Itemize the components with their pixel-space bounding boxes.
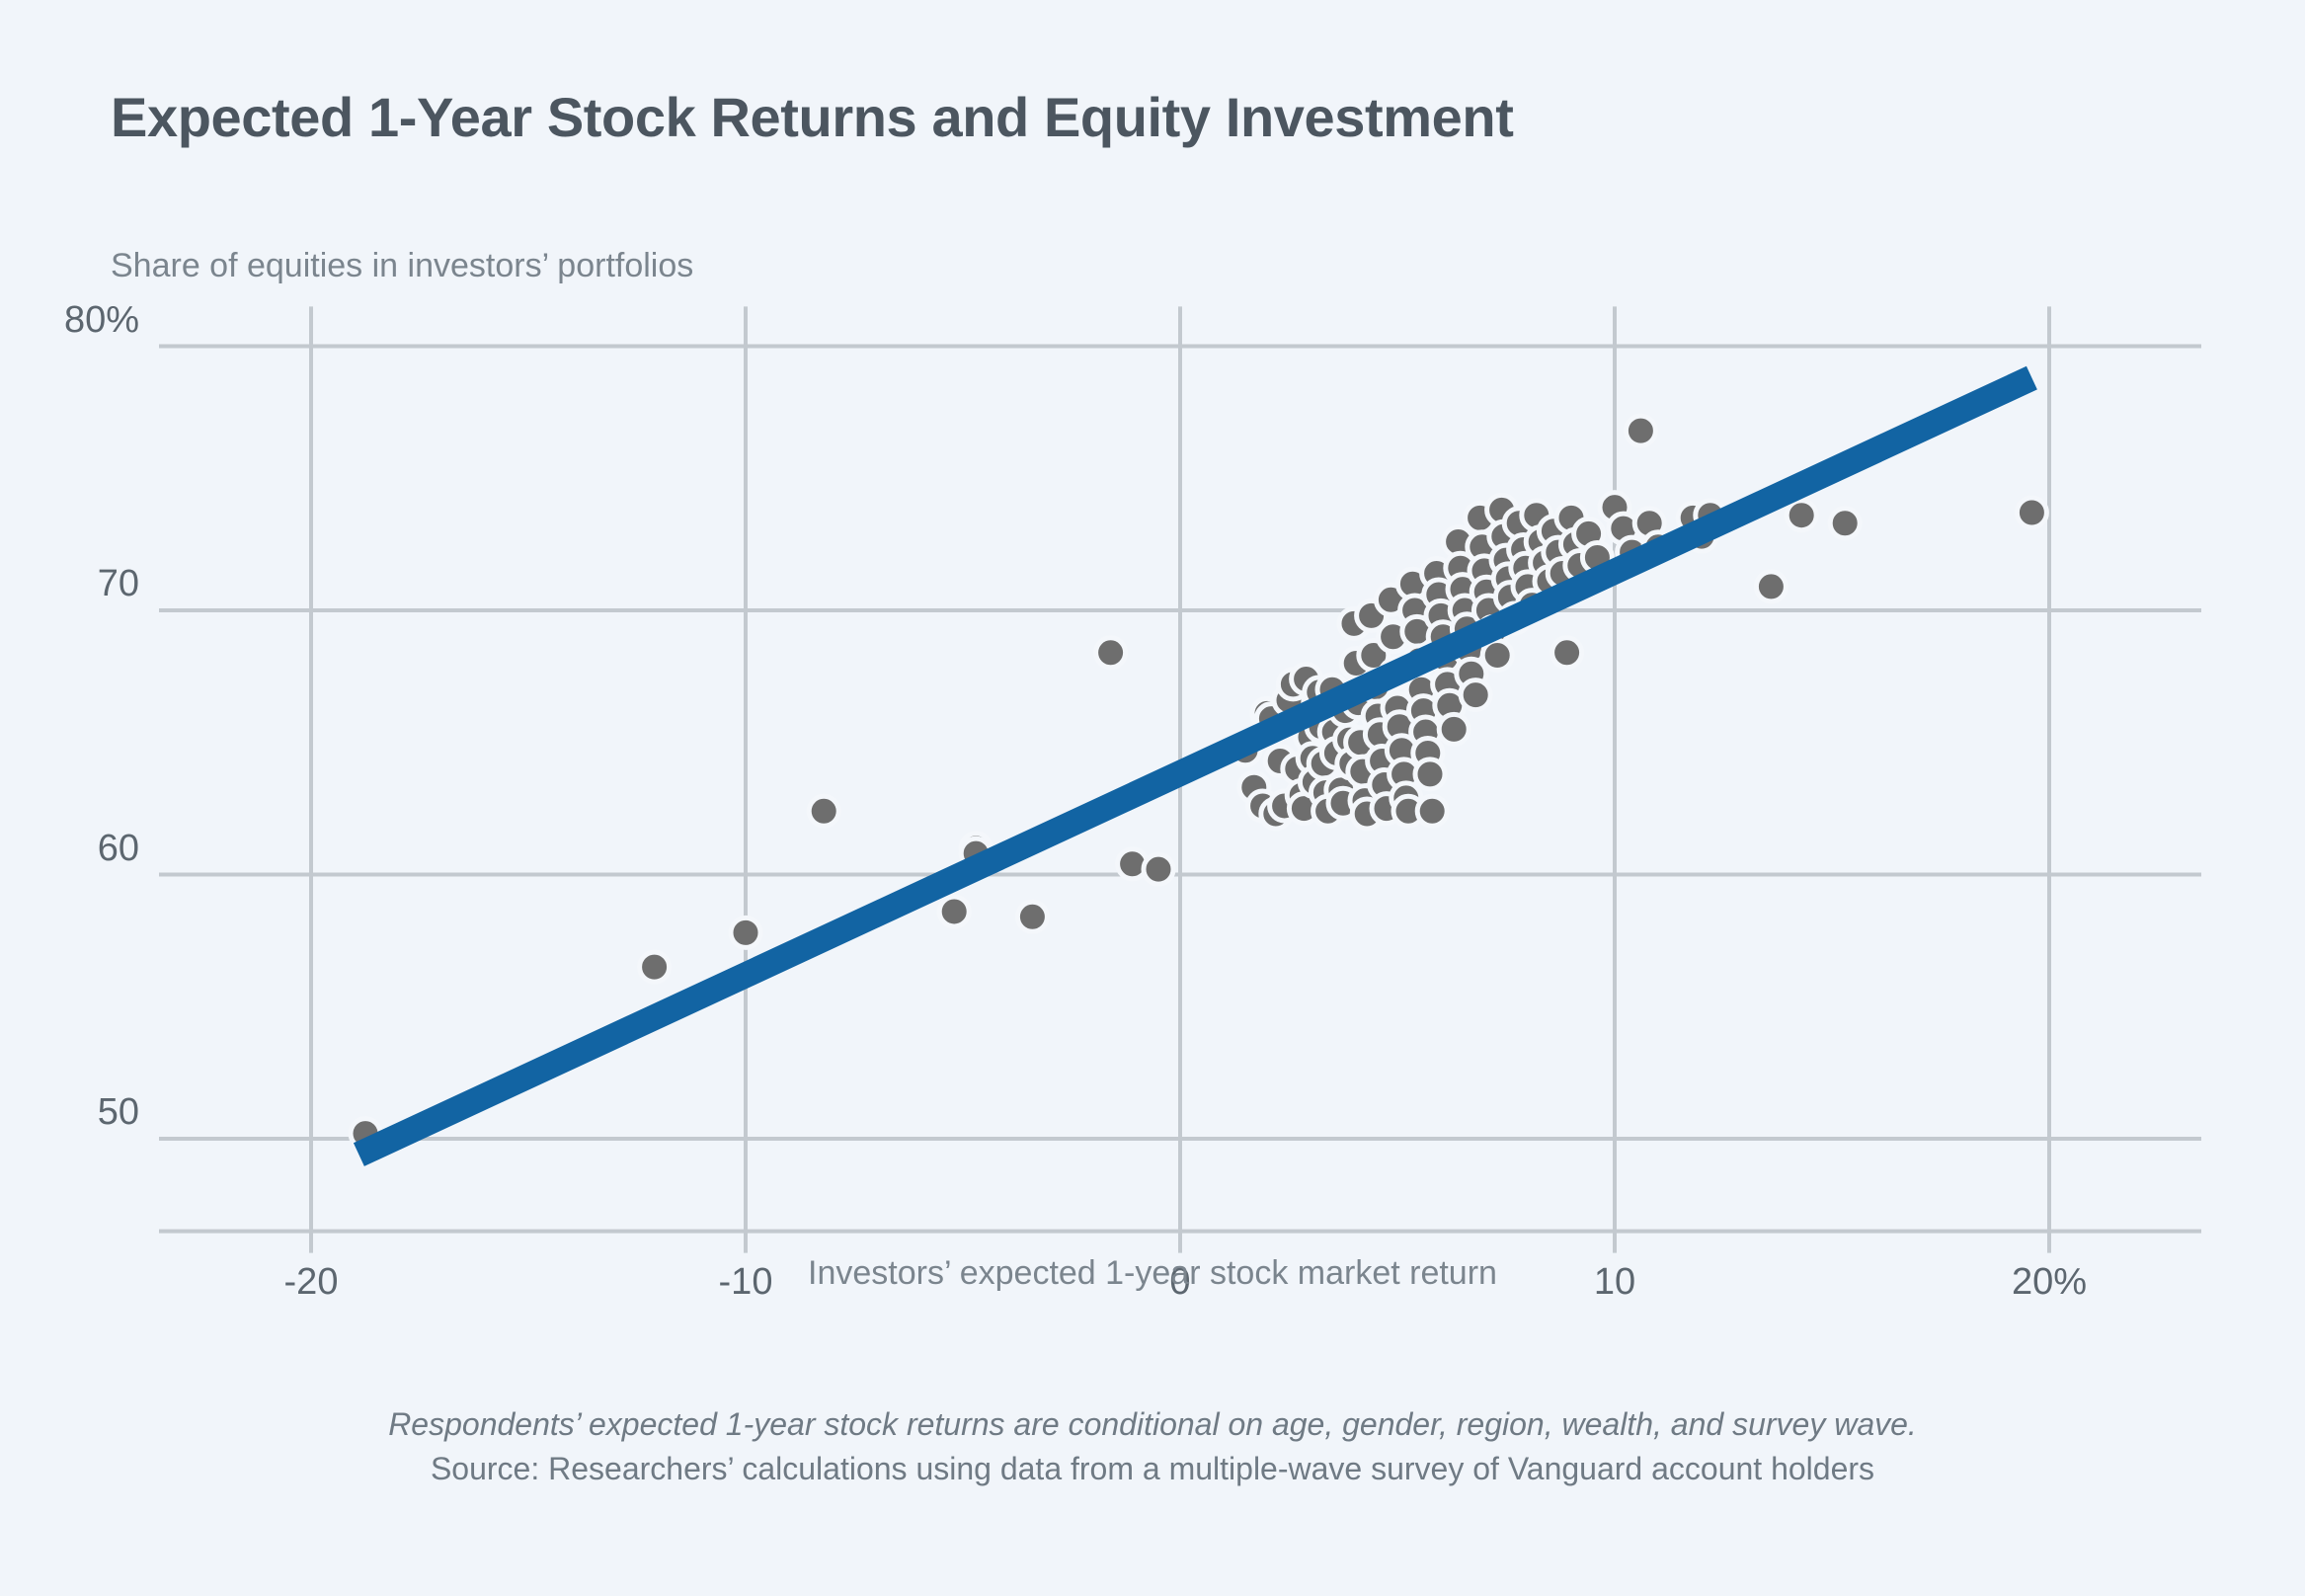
scatter-point bbox=[640, 952, 670, 982]
scatter-point bbox=[1439, 714, 1469, 744]
scatter-point bbox=[731, 918, 760, 947]
trendline bbox=[358, 378, 2031, 1155]
scatter-point bbox=[2017, 498, 2046, 527]
figure-notes: Respondents’ expected 1-year stock retur… bbox=[0, 1402, 2305, 1492]
scatter-point bbox=[1830, 509, 1860, 538]
scatter-point bbox=[1626, 416, 1655, 445]
scatter-point bbox=[939, 897, 969, 926]
scatter-point bbox=[1552, 638, 1582, 668]
chart-figure: Expected 1-Year Stock Returns and Equity… bbox=[0, 0, 2305, 1596]
scatter-plot bbox=[0, 0, 2305, 1596]
scatter-point bbox=[1787, 501, 1816, 530]
y-tick-label: 70 bbox=[10, 563, 139, 605]
scatter-point bbox=[1144, 854, 1173, 884]
y-tick-label: 60 bbox=[10, 828, 139, 870]
y-tick-label: 50 bbox=[10, 1091, 139, 1134]
scatter-point bbox=[1756, 572, 1786, 601]
scatter-point bbox=[1017, 902, 1047, 931]
x-axis-title: Investors’ expected 1-year stock market … bbox=[0, 1254, 2305, 1293]
scatter-point bbox=[1415, 759, 1445, 789]
note-conditional: Respondents’ expected 1-year stock retur… bbox=[0, 1402, 2305, 1447]
scatter-point bbox=[809, 796, 838, 826]
trendline-segment bbox=[358, 378, 2031, 1155]
scatter-point bbox=[1096, 638, 1126, 668]
scatter-point bbox=[1417, 796, 1447, 826]
note-source: Source: Researchers’ calculations using … bbox=[0, 1447, 2305, 1491]
scatter-point bbox=[1461, 680, 1490, 710]
y-tick-label: 80% bbox=[10, 299, 139, 342]
